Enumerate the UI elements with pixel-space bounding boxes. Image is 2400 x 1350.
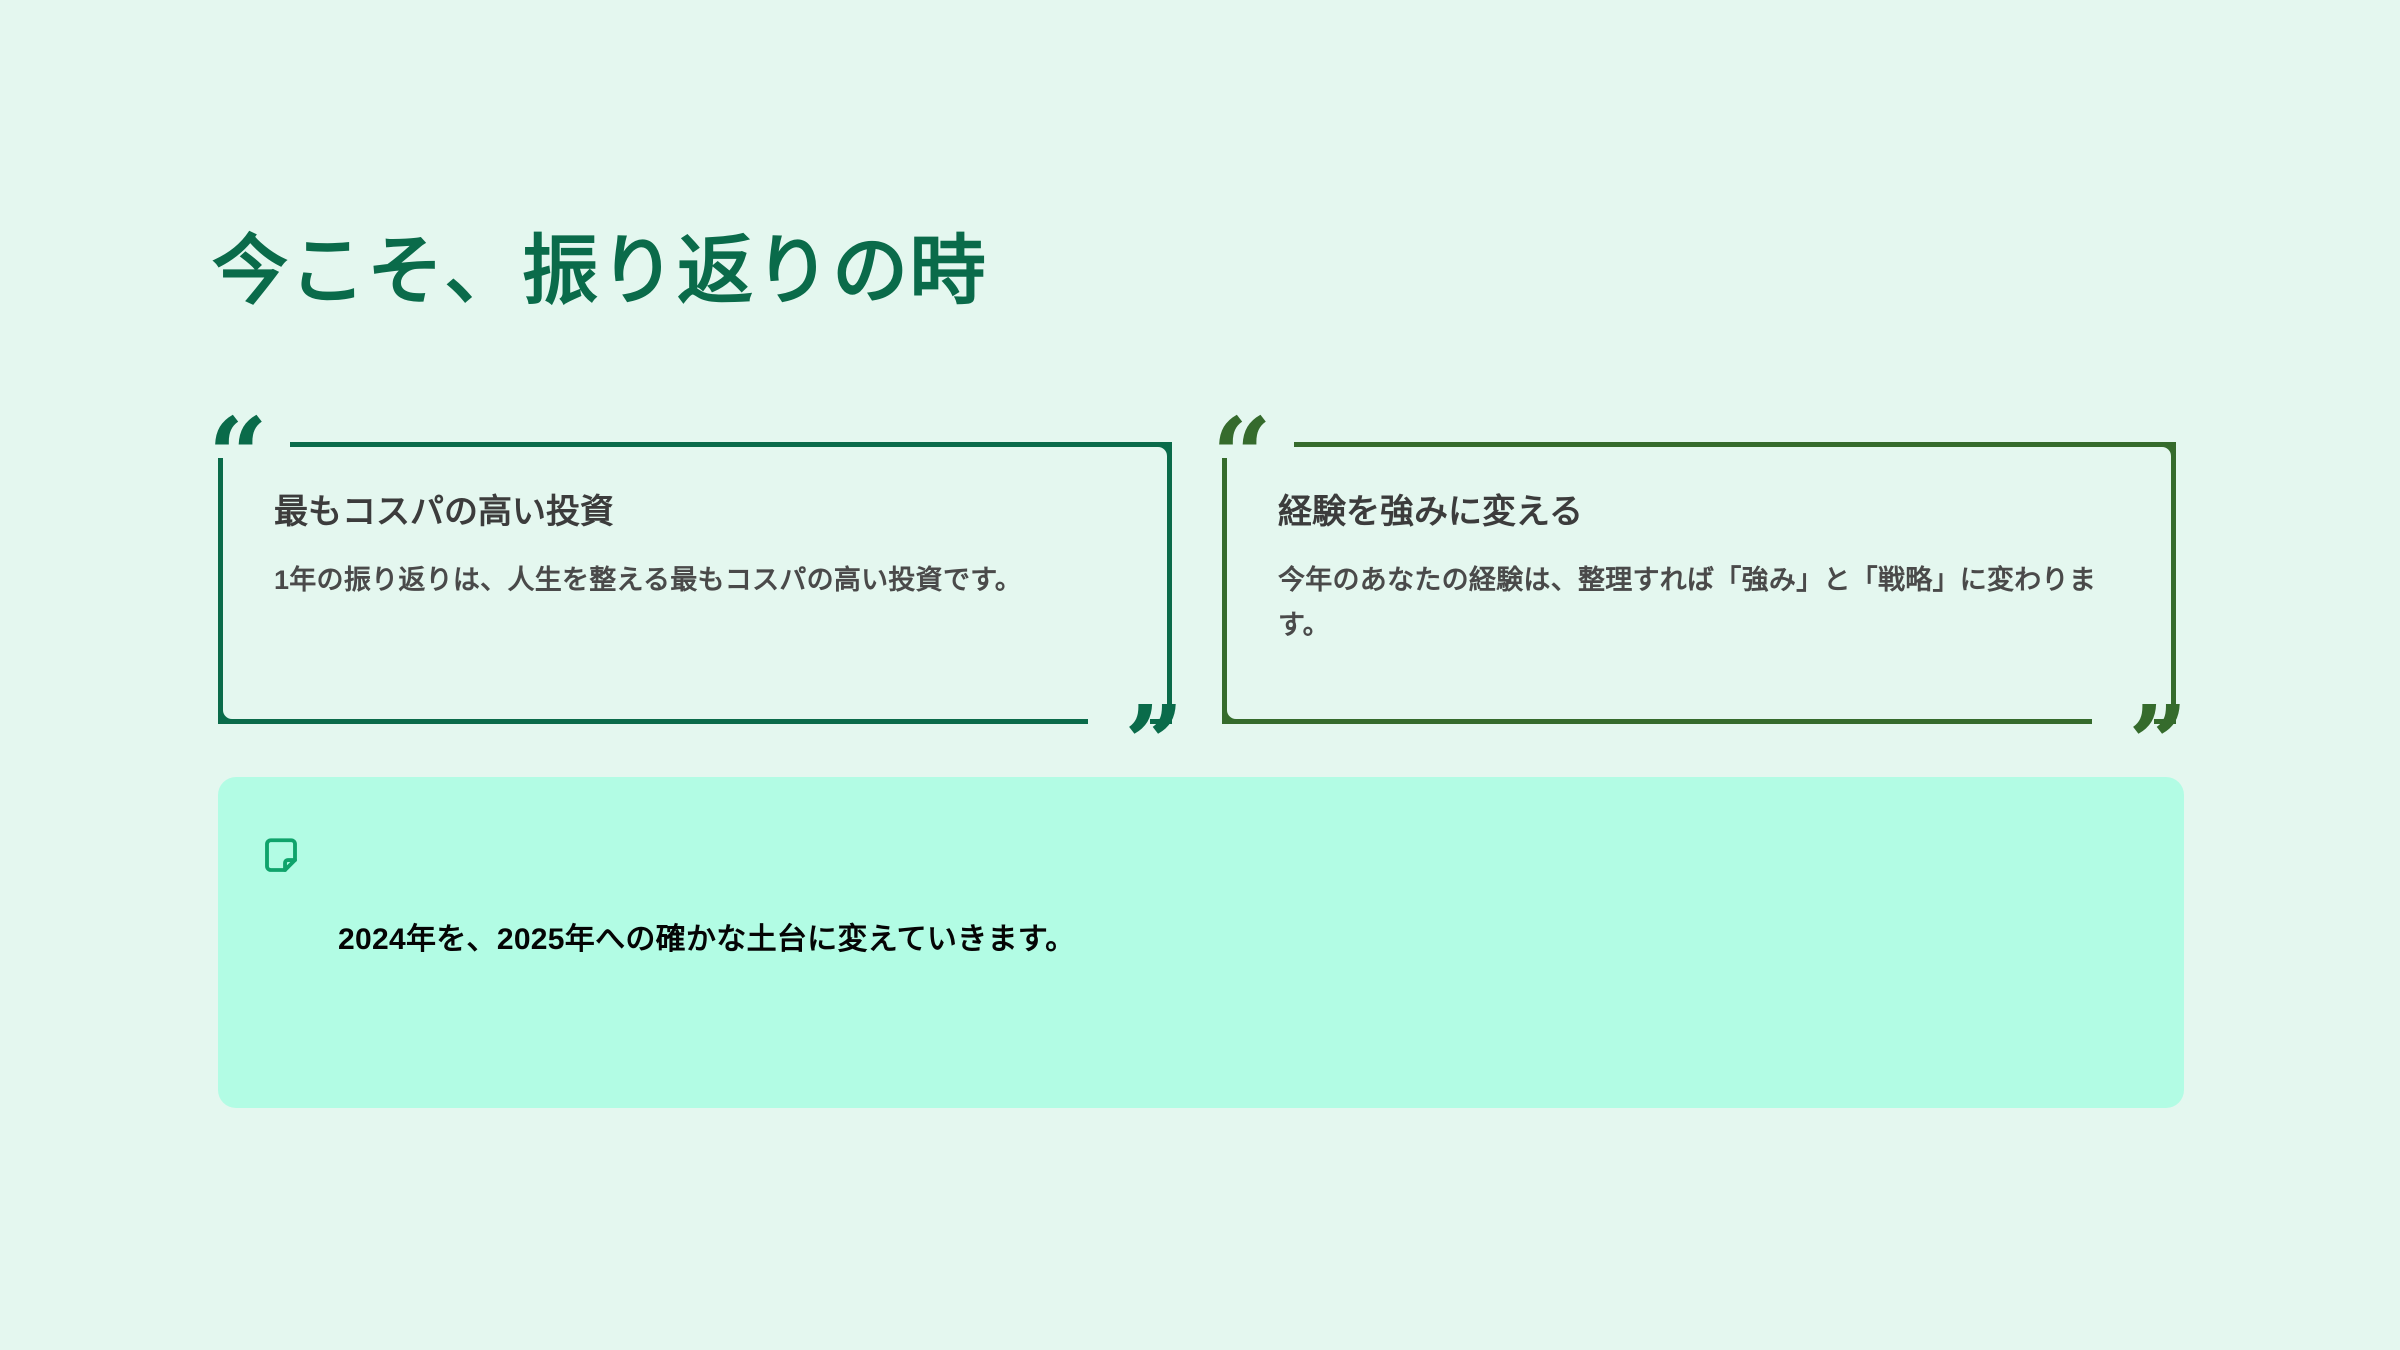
quote-card-1: “ ” 最もコスパの高い投資 1年の振り返りは、人生を整える最もコスパの高い投資… — [212, 414, 1184, 754]
quote-card-2: “ ” 経験を強みに変える 今年のあなたの経験は、整理すれば「強み」と「戦略」に… — [1216, 414, 2188, 754]
quote-card-2-body: 経験を強みに変える 今年のあなたの経験は、整理すれば「強み」と「戦略」に変わりま… — [1278, 490, 2136, 647]
quote-card-1-body: 最もコスパの高い投資 1年の振り返りは、人生を整える最もコスパの高い投資です。 — [274, 490, 1132, 603]
page-title: 今こそ、振り返りの時 — [212, 228, 987, 315]
frame-corner-bottom-left — [1222, 702, 1244, 724]
quote-cards-row: “ ” 最もコスパの高い投資 1年の振り返りは、人生を整える最もコスパの高い投資… — [212, 414, 2188, 754]
quote-card-1-text: 1年の振り返りは、人生を整える最もコスパの高い投資です。 — [274, 558, 1132, 603]
quote-card-2-heading: 経験を強みに変える — [1278, 490, 2136, 534]
frame-bottom-edge — [1222, 719, 2092, 724]
frame-bottom-edge — [218, 719, 1088, 724]
frame-corner-bottom-left — [218, 702, 240, 724]
frame-top-edge — [1294, 442, 2176, 447]
open-quote-icon: “ — [1212, 404, 1272, 508]
frame-top-edge — [290, 442, 1172, 447]
quote-card-1-heading: 最もコスパの高い投資 — [274, 490, 1132, 534]
conclusion-banner-text: 2024年を、2025年への確かな土台に変えていきます。 — [338, 917, 1075, 962]
frame-corner-top-right — [2154, 442, 2176, 464]
sticky-note-icon — [260, 835, 302, 877]
frame-corner-top-right — [1150, 442, 1172, 464]
open-quote-icon: “ — [208, 404, 268, 508]
quote-card-2-text: 今年のあなたの経験は、整理すれば「強み」と「戦略」に変わります。 — [1278, 558, 2136, 647]
conclusion-banner: 2024年を、2025年への確かな土台に変えていきます。 — [218, 777, 2184, 1108]
